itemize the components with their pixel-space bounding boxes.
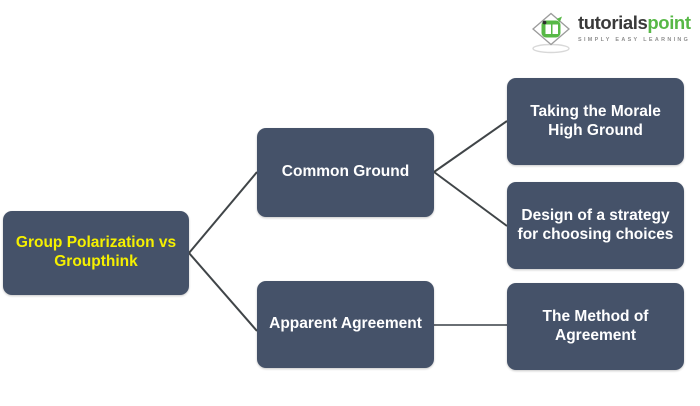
node-root-group-polarization-vs-groupthink[interactable]: Group Polarization vs Groupthink	[3, 211, 189, 295]
connector-root-to-apparent-agreement	[189, 253, 257, 331]
node-the-method-of-agreement[interactable]: The Method of Agreement	[507, 283, 684, 370]
diagram-canvas: Group Polarization vs Groupthink Common …	[0, 0, 700, 406]
logo-word-tutorials: tutorials	[578, 12, 647, 33]
node-taking-the-morale-high-ground[interactable]: Taking the Morale High Ground	[507, 78, 684, 165]
tutorialspoint-diamond-logo-icon	[528, 10, 576, 54]
logo-wordmark: tutorialspoint	[578, 14, 690, 34]
connector-common-ground-to-morale	[434, 121, 507, 172]
node-design-of-a-strategy-label: Design of a strategy for choosing choice…	[515, 207, 676, 245]
node-root-label: Group Polarization vs Groupthink	[11, 234, 181, 272]
connector-root-to-common-ground	[189, 172, 257, 253]
node-apparent-agreement-label: Apparent Agreement	[269, 315, 422, 334]
logo-word-point: point	[647, 12, 690, 33]
node-common-ground[interactable]: Common Ground	[257, 128, 434, 217]
node-taking-the-morale-high-ground-label: Taking the Morale High Ground	[515, 103, 676, 141]
logo-tagline: SIMPLY EASY LEARNING	[578, 37, 690, 43]
logo-shadow-ellipse	[533, 45, 569, 53]
logo-book-spine	[551, 24, 552, 35]
logo-accent-dot	[543, 21, 547, 25]
node-common-ground-label: Common Ground	[282, 163, 409, 182]
tutorialspoint-logo: tutorialspoint SIMPLY EASY LEARNING	[528, 10, 690, 54]
node-apparent-agreement[interactable]: Apparent Agreement	[257, 281, 434, 368]
logo-text: tutorialspoint SIMPLY EASY LEARNING	[578, 14, 690, 43]
node-the-method-of-agreement-label: The Method of Agreement	[515, 308, 676, 346]
connector-common-ground-to-design	[434, 172, 507, 226]
node-design-of-a-strategy[interactable]: Design of a strategy for choosing choice…	[507, 182, 684, 269]
